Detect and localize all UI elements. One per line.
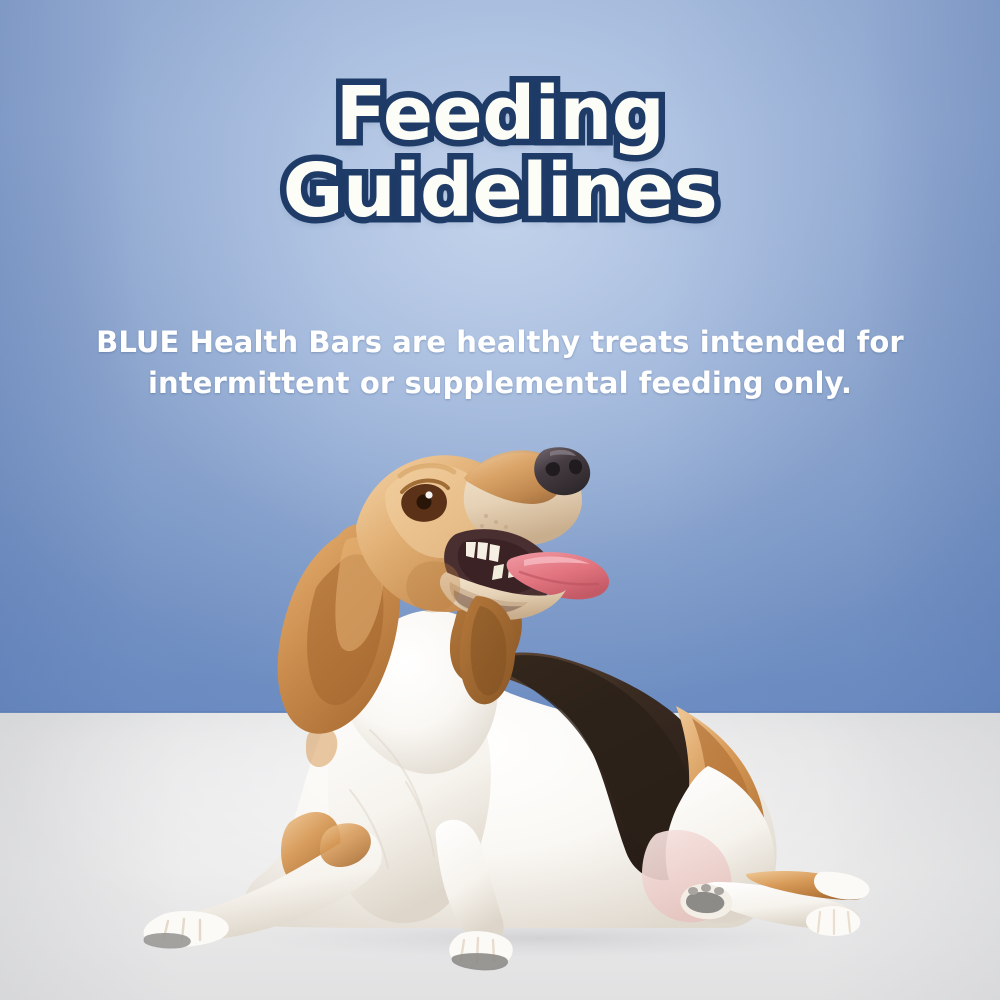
dog-front-left-paw-pad: [144, 933, 191, 949]
beagle-illustration: [120, 430, 880, 975]
beagle-dog-photo: [120, 430, 880, 975]
dog-eye-glint: [425, 491, 432, 498]
dog-front-right-paw-pad: [452, 953, 508, 970]
feeding-guidelines-panel: Feeding Guidelines BLUE Health Bars are …: [0, 0, 1000, 1000]
